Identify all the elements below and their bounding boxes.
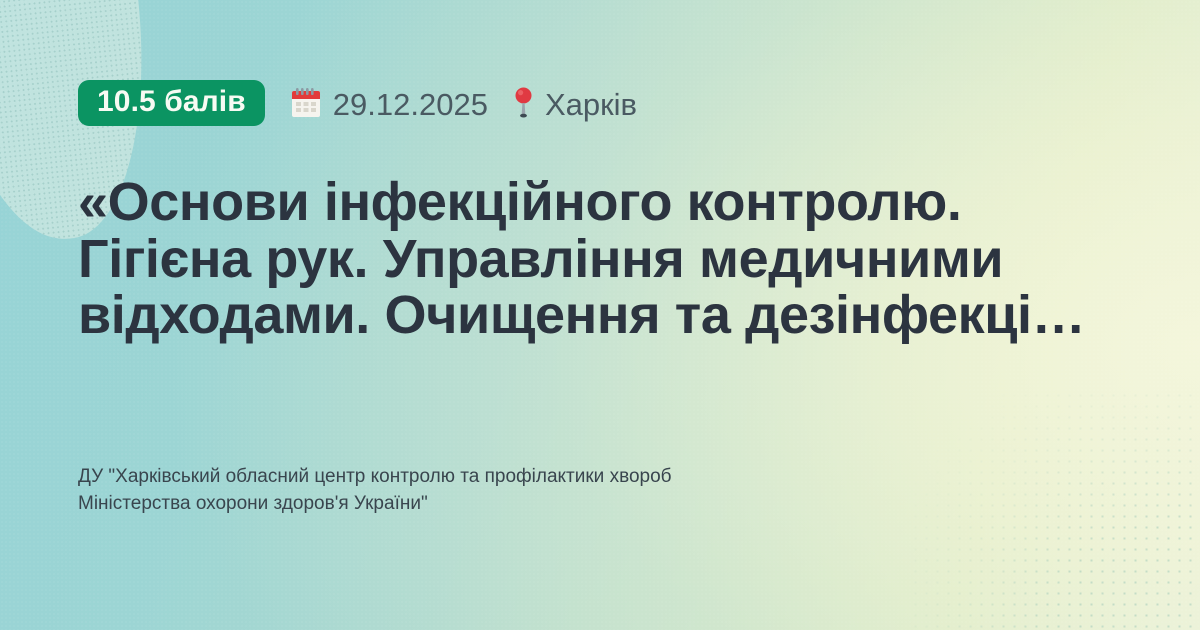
event-title-line-1: «Основи інфекційного контролю.	[78, 174, 1128, 231]
event-title: «Основи інфекційного контролю. Гігієна р…	[78, 174, 1128, 344]
score-badge: 10.5 балів	[78, 80, 265, 126]
event-location-text: Харків	[545, 89, 637, 120]
event-title-line-2: Гігієна рук. Управління медичними	[78, 231, 1128, 288]
map-pin-icon	[514, 86, 533, 120]
calendar-icon	[291, 87, 321, 119]
organizer-line-1: ДУ "Харківський обласний центр контролю …	[78, 464, 938, 491]
event-date-text: 29.12.2025	[333, 89, 488, 120]
event-title-line-3: відходами. Очищення та дезінфекці…	[78, 287, 1128, 344]
card-content: 10.5 балів	[0, 0, 1200, 630]
meta-row: 10.5 балів	[78, 78, 1128, 128]
organizer-line-2: Міністерства охорони здоров'я України"	[78, 491, 938, 518]
event-date: 29.12.2025	[291, 87, 488, 119]
event-location: Харків	[514, 86, 637, 120]
event-card: 10.5 балів	[0, 0, 1200, 630]
organizer-name: ДУ "Харківський обласний центр контролю …	[78, 464, 938, 518]
